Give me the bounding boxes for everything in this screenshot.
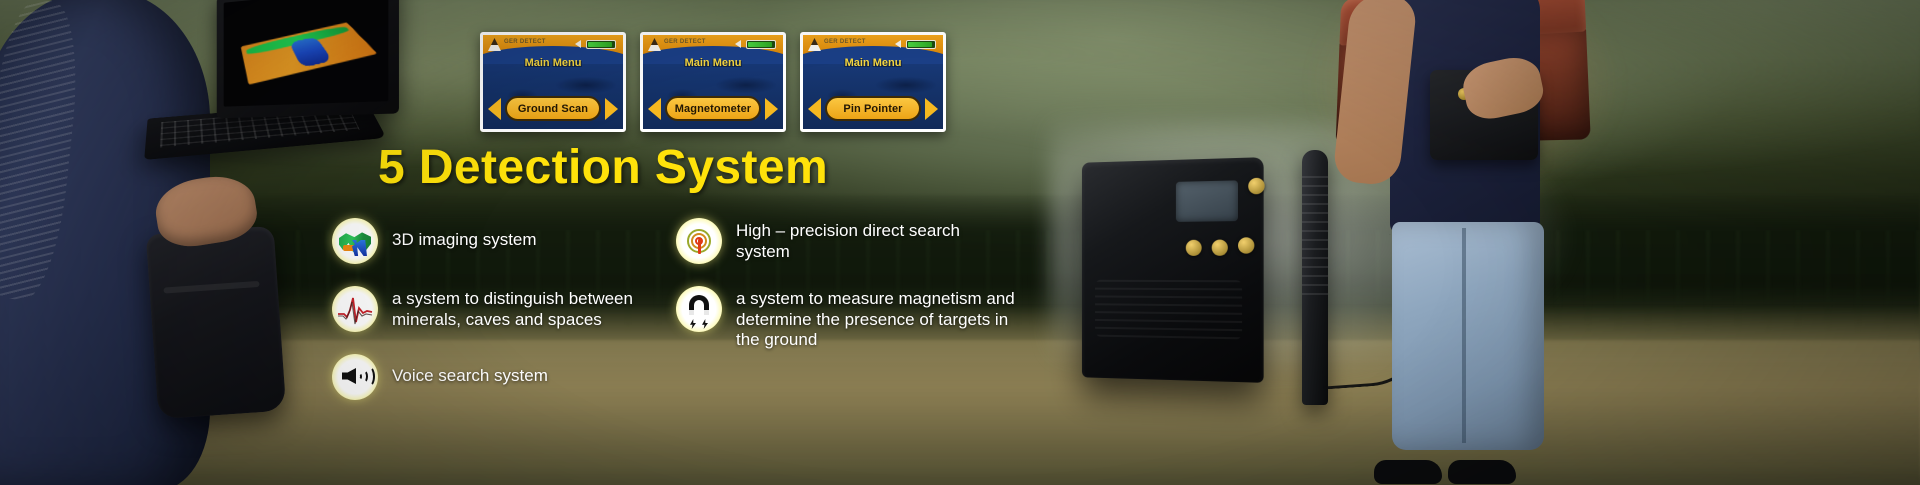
vignette-overlay bbox=[0, 0, 1920, 485]
promo-banner: GER DETECT Main Menu Ground Scan GER DET… bbox=[0, 0, 1920, 485]
